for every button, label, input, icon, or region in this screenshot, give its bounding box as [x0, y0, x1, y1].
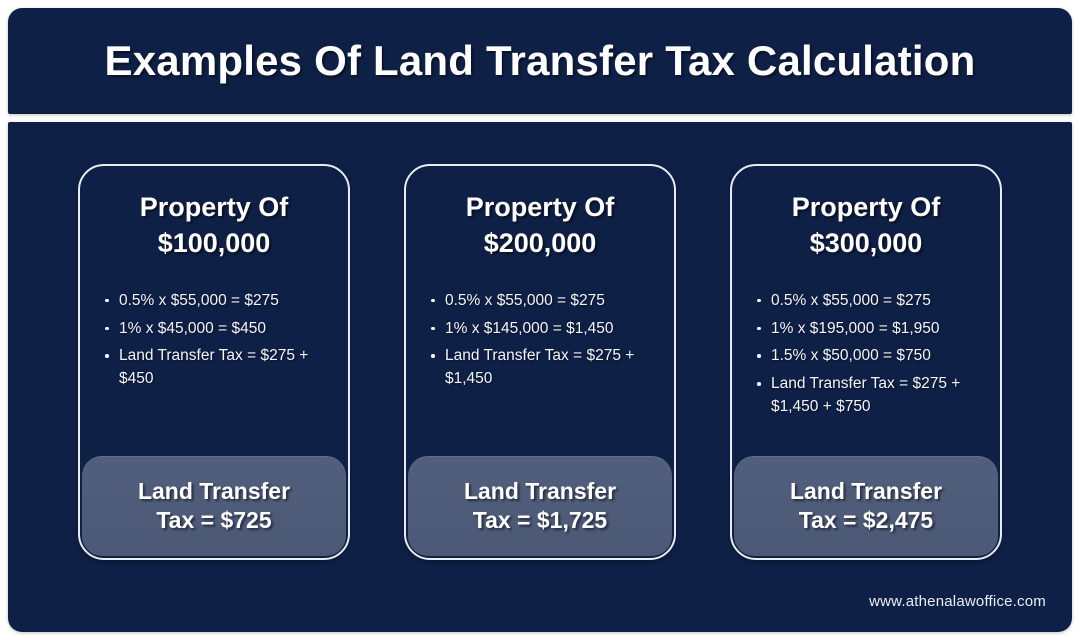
page-title: Examples Of Land Transfer Tax Calculatio…: [104, 37, 975, 85]
card-body: 0.5% x $55,000 = $275 1% x $195,000 = $1…: [732, 262, 1000, 456]
result-line1: Land Transfer: [138, 478, 290, 504]
list-item: Land Transfer Tax = $275 + $1,450 + $750: [754, 373, 986, 419]
example-card-200000: Property Of $200,000 0.5% x $55,000 = $2…: [404, 164, 676, 560]
result-badge-text: Land Transfer Tax = $725: [138, 477, 290, 536]
card-title: Property Of $100,000: [92, 190, 336, 262]
list-item: Land Transfer Tax = $275 + $1,450: [428, 345, 660, 391]
card-title-line1: Property Of: [466, 192, 615, 222]
example-card-100000: Property Of $100,000 0.5% x $55,000 = $2…: [78, 164, 350, 560]
calculation-list: 0.5% x $55,000 = $275 1% x $45,000 = $45…: [102, 290, 334, 391]
list-item: 0.5% x $55,000 = $275: [754, 290, 986, 313]
result-line2: Tax = $2,475: [799, 507, 934, 533]
card-title-line2: $100,000: [158, 228, 271, 258]
list-item: 1.5% x $50,000 = $750: [754, 345, 986, 368]
card-title-line2: $300,000: [810, 228, 923, 258]
calculation-list: 0.5% x $55,000 = $275 1% x $145,000 = $1…: [428, 290, 660, 391]
result-badge: Land Transfer Tax = $2,475: [734, 456, 998, 556]
list-item: 1% x $195,000 = $1,950: [754, 318, 986, 341]
list-item: 0.5% x $55,000 = $275: [102, 290, 334, 313]
body-band: Property Of $100,000 0.5% x $55,000 = $2…: [8, 122, 1072, 632]
card-title-line2: $200,000: [484, 228, 597, 258]
card-title-line1: Property Of: [792, 192, 941, 222]
result-line1: Land Transfer: [464, 478, 616, 504]
list-item: 1% x $45,000 = $450: [102, 318, 334, 341]
example-cards-row: Property Of $100,000 0.5% x $55,000 = $2…: [8, 164, 1072, 564]
card-body: 0.5% x $55,000 = $275 1% x $45,000 = $45…: [80, 262, 348, 456]
result-badge: Land Transfer Tax = $725: [82, 456, 346, 556]
card-title-line1: Property Of: [140, 192, 289, 222]
result-line2: Tax = $1,725: [473, 507, 608, 533]
list-item: 1% x $145,000 = $1,450: [428, 318, 660, 341]
example-card-300000: Property Of $300,000 0.5% x $55,000 = $2…: [730, 164, 1002, 560]
card-body: 0.5% x $55,000 = $275 1% x $145,000 = $1…: [406, 262, 674, 456]
result-line1: Land Transfer: [790, 478, 942, 504]
result-badge: Land Transfer Tax = $1,725: [408, 456, 672, 556]
card-title: Property Of $200,000: [418, 190, 662, 262]
header-band: Examples Of Land Transfer Tax Calculatio…: [8, 8, 1072, 114]
list-item: 0.5% x $55,000 = $275: [428, 290, 660, 313]
card-title: Property Of $300,000: [744, 190, 988, 262]
result-badge-text: Land Transfer Tax = $2,475: [790, 477, 942, 536]
calculation-list: 0.5% x $55,000 = $275 1% x $195,000 = $1…: [754, 290, 986, 419]
result-line2: Tax = $725: [156, 507, 271, 533]
result-badge-text: Land Transfer Tax = $1,725: [464, 477, 616, 536]
source-website-url: www.athenalawoffice.com: [869, 593, 1046, 610]
infographic-canvas: Examples Of Land Transfer Tax Calculatio…: [0, 0, 1080, 640]
list-item: Land Transfer Tax = $275 + $450: [102, 345, 334, 391]
